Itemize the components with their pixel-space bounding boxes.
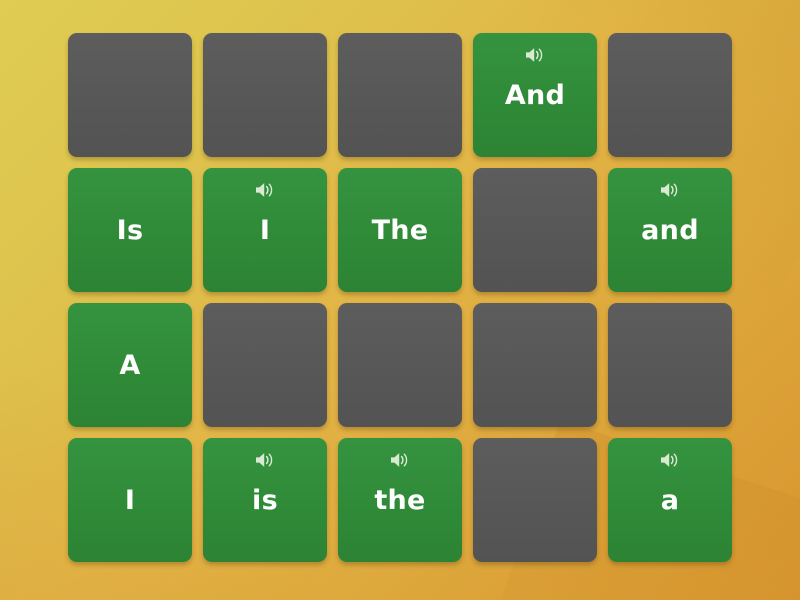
memory-tile[interactable] — [338, 33, 462, 157]
memory-tile-label: The — [366, 217, 435, 244]
memory-tile[interactable] — [68, 33, 192, 157]
memory-tile[interactable] — [608, 33, 732, 157]
memory-tile[interactable] — [473, 168, 597, 292]
memory-tile[interactable] — [203, 303, 327, 427]
memory-tile[interactable] — [608, 303, 732, 427]
memory-tile-label: I — [119, 487, 141, 514]
memory-tile[interactable]: I — [68, 438, 192, 562]
memory-tile[interactable] — [203, 33, 327, 157]
memory-tile[interactable]: Is — [68, 168, 192, 292]
speaker-icon[interactable] — [254, 180, 276, 200]
memory-tile[interactable]: a — [608, 438, 732, 562]
memory-tile-label: And — [499, 82, 571, 109]
speaker-icon[interactable] — [254, 450, 276, 470]
memory-tile[interactable]: The — [338, 168, 462, 292]
memory-tile[interactable] — [338, 303, 462, 427]
memory-tile[interactable]: And — [473, 33, 597, 157]
memory-tile[interactable]: and — [608, 168, 732, 292]
memory-tile[interactable] — [473, 438, 597, 562]
speaker-icon[interactable] — [524, 45, 546, 65]
game-board-stage: AndIsITheandAIisthea — [0, 0, 800, 600]
memory-tile[interactable]: I — [203, 168, 327, 292]
memory-tile[interactable]: the — [338, 438, 462, 562]
memory-tile-label: and — [635, 217, 705, 244]
memory-tile-label: I — [254, 217, 276, 244]
speaker-icon[interactable] — [659, 180, 681, 200]
memory-tile-label: is — [246, 487, 284, 514]
memory-tile[interactable]: is — [203, 438, 327, 562]
speaker-icon[interactable] — [659, 450, 681, 470]
memory-tile-grid: AndIsITheandAIisthea — [68, 33, 733, 562]
memory-tile-label: the — [368, 487, 431, 514]
memory-tile-label: A — [113, 352, 146, 379]
memory-tile-label: Is — [111, 217, 150, 244]
memory-tile[interactable] — [473, 303, 597, 427]
memory-tile[interactable]: A — [68, 303, 192, 427]
memory-tile-label: a — [655, 487, 686, 514]
speaker-icon[interactable] — [389, 450, 411, 470]
